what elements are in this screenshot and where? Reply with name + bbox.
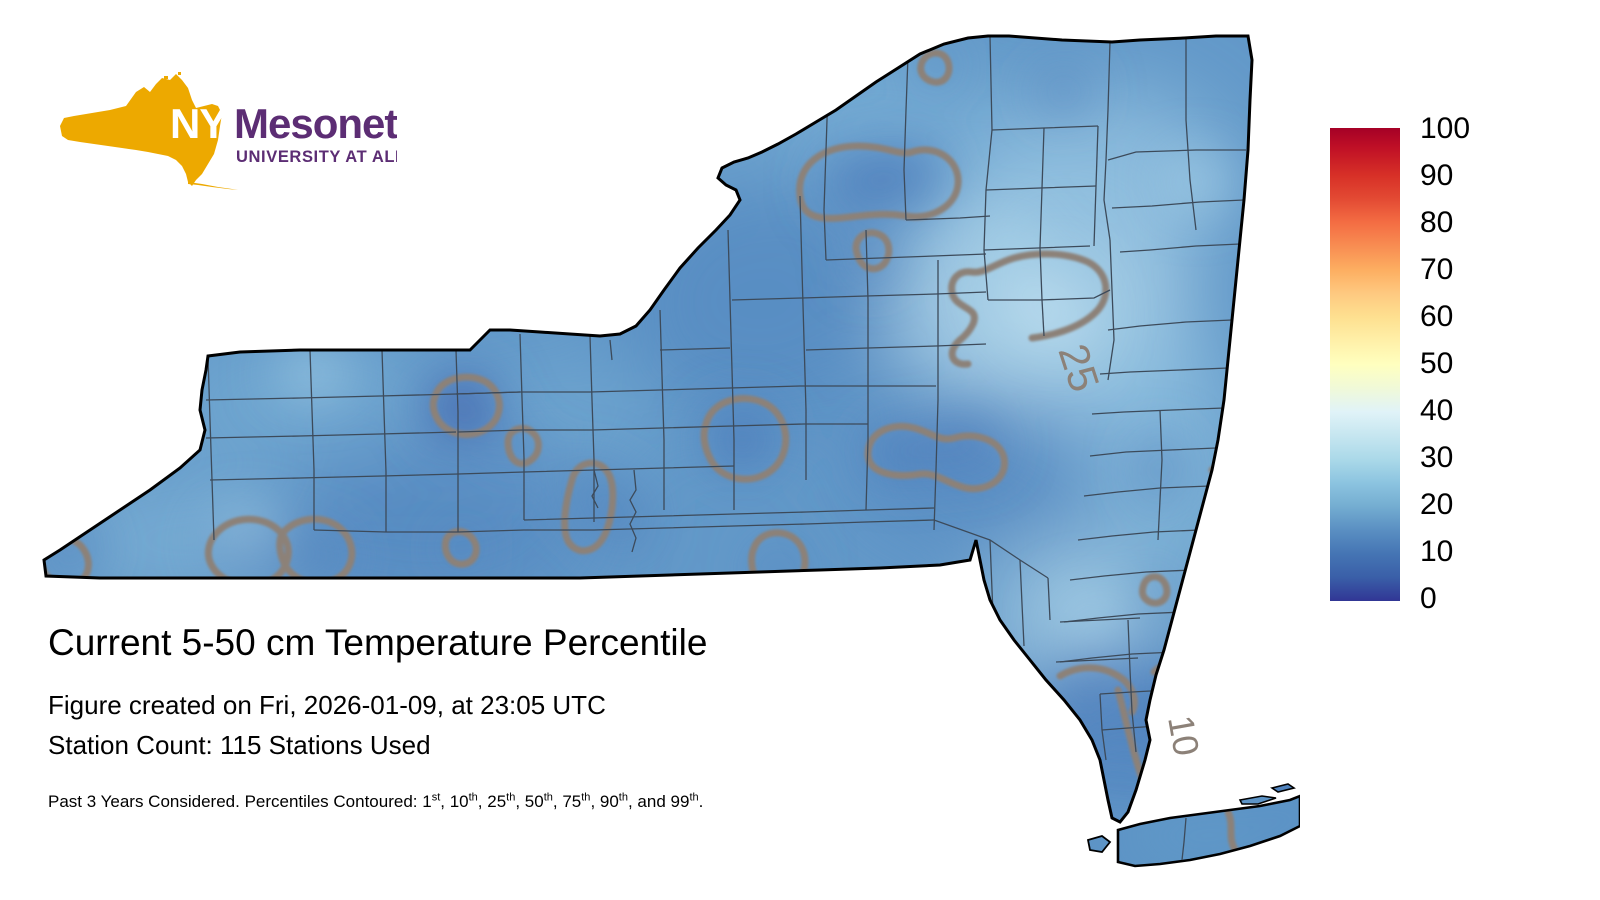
footnote-seg-50: , 50 — [515, 792, 543, 811]
colorbar-tick-40: 40 — [1420, 396, 1453, 426]
footnote-prefix: Past 3 Years Considered. Percentiles Con… — [48, 792, 432, 811]
colorbar-tick-100: 100 — [1420, 114, 1470, 144]
colorbar-tick-30: 30 — [1420, 443, 1453, 473]
colorbar-gradient — [1330, 128, 1400, 601]
footnote-sup-25th: th — [506, 791, 515, 803]
footnote-sup-99th: th — [689, 791, 698, 803]
footnote-seg-90: , 90 — [590, 792, 618, 811]
figure-title: Current 5-50 cm Temperature Percentile — [48, 620, 1008, 666]
colorbar-tick-10: 10 — [1420, 537, 1453, 567]
footnote-text: Past 3 Years Considered. Percentiles Con… — [48, 791, 1008, 813]
footnote-seg-75: , 75 — [553, 792, 581, 811]
station-count-text: Station Count: 115 Stations Used — [48, 725, 1008, 765]
footnote-sup-1st: st — [432, 791, 441, 803]
colorbar-tick-60: 60 — [1420, 302, 1453, 332]
footnote-sup-90th: th — [619, 791, 628, 803]
footnote-seg-99: , and 99 — [628, 792, 689, 811]
footnote-seg-10: , 10 — [440, 792, 468, 811]
footnote-period: . — [699, 792, 704, 811]
caption-block: Current 5-50 cm Temperature Percentile F… — [48, 620, 1008, 813]
colorbar-tick-80: 80 — [1420, 208, 1453, 238]
colorbar: 100 90 80 70 60 50 40 30 20 10 0 — [1330, 128, 1590, 603]
colorbar-tick-70: 70 — [1420, 255, 1453, 285]
footnote-seg-25: , 25 — [478, 792, 506, 811]
figure-created-text: Figure created on Fri, 2026-01-09, at 23… — [48, 685, 1008, 725]
colorbar-tick-50: 50 — [1420, 349, 1453, 379]
footnote-sup-50th: th — [544, 791, 553, 803]
footnote-sup-10th: th — [469, 791, 478, 803]
contour-label-10: 10 — [1160, 712, 1207, 759]
colorbar-tick-0: 0 — [1420, 584, 1437, 614]
colorbar-tick-90: 90 — [1420, 161, 1453, 191]
colorbar-tick-20: 20 — [1420, 490, 1453, 520]
